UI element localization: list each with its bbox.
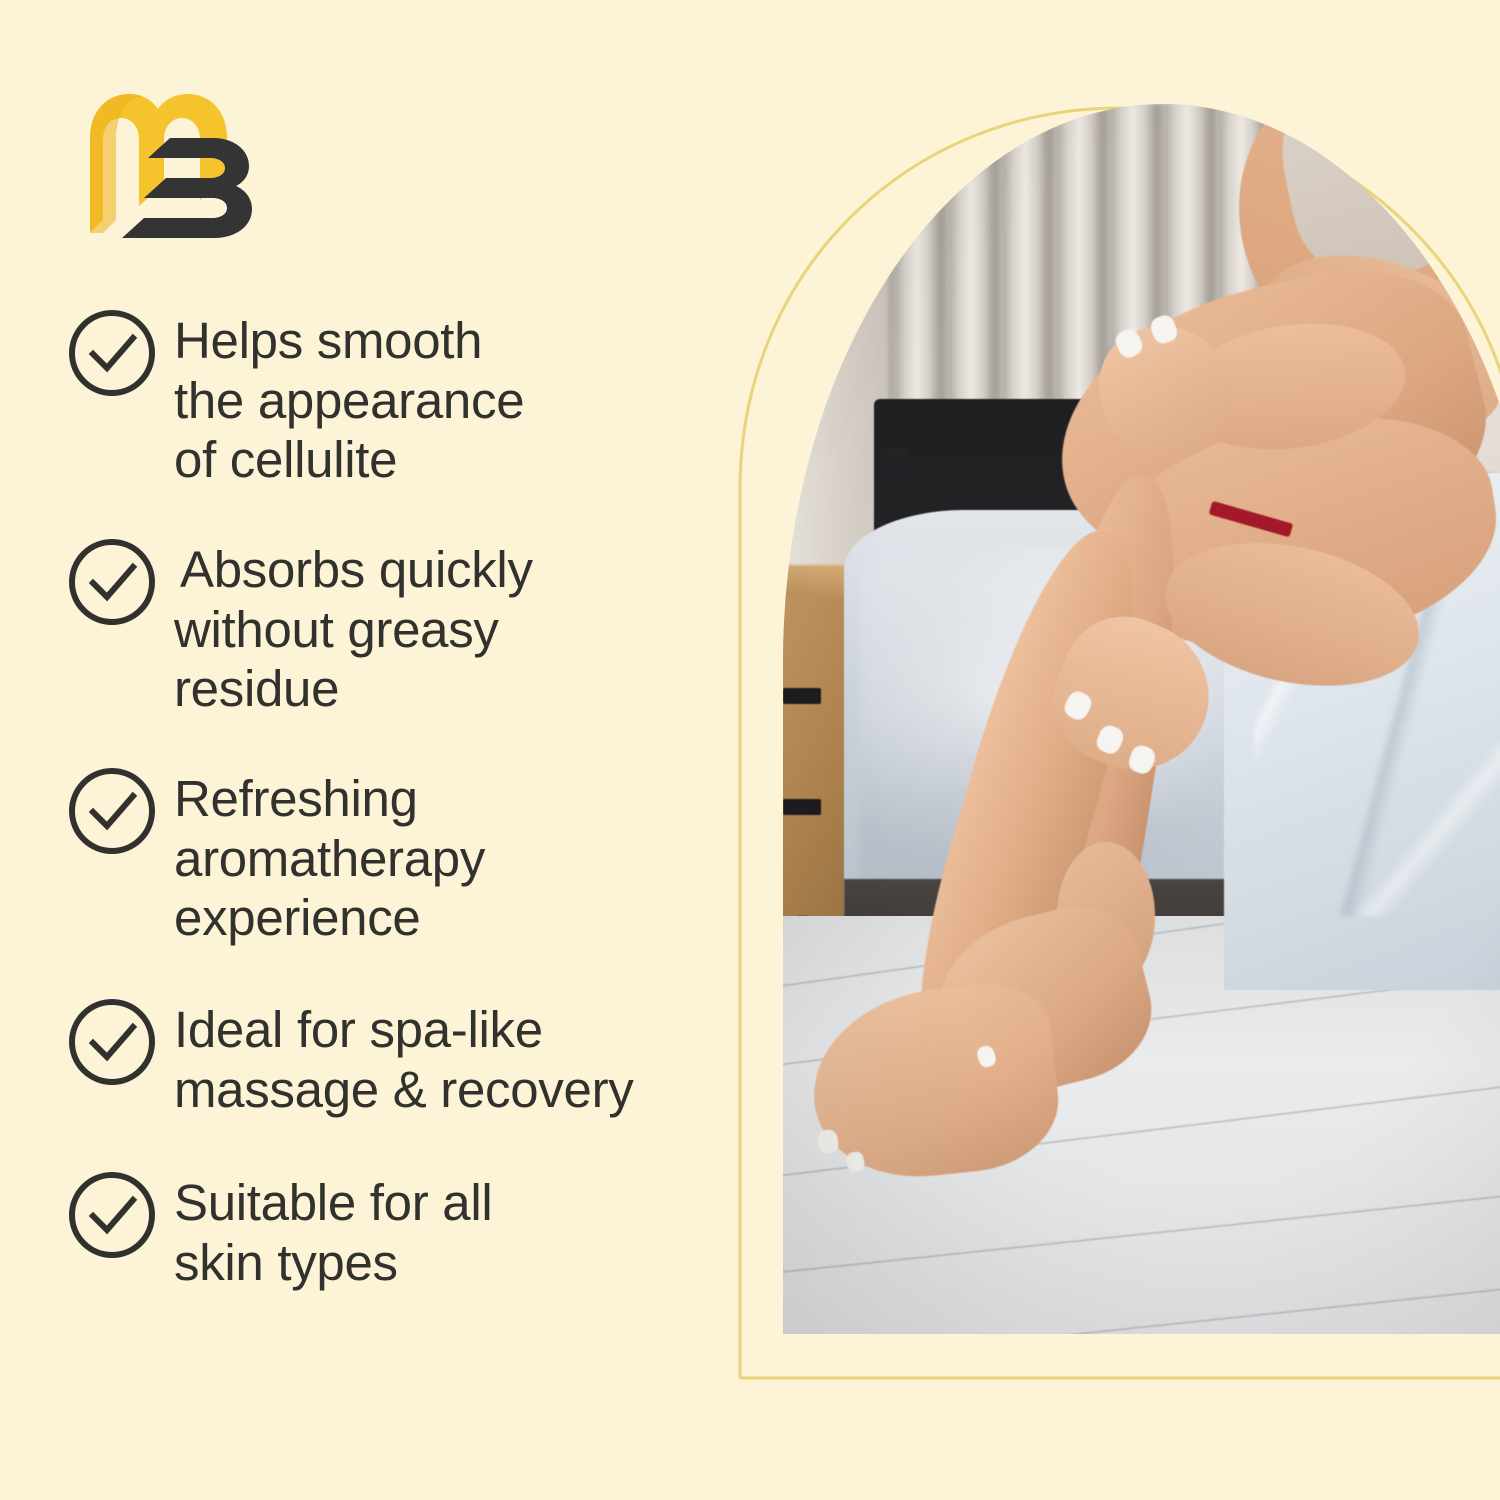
benefit-text: Refreshing aromatherapy experience xyxy=(174,763,485,948)
benefit-item: Ideal for spa-like massage & recovery xyxy=(66,994,756,1119)
logo-m-mark xyxy=(90,94,227,233)
benefit-text: Absorbs quickly without greasy residue xyxy=(174,534,533,719)
benefit-text: Suitable for all skin types xyxy=(174,1167,492,1292)
bedroom-scene xyxy=(783,104,1500,1334)
check-circle-icon xyxy=(66,996,158,1088)
benefit-item: Suitable for all skin types xyxy=(66,1167,756,1292)
check-circle-icon xyxy=(66,765,158,857)
check-circle-icon xyxy=(66,1169,158,1261)
benefit-text: Helps smooth the appearance of cellulite xyxy=(174,305,524,490)
nightstand-drawer-handle xyxy=(783,799,821,815)
check-circle-icon xyxy=(66,536,158,628)
benefit-item: Refreshing aromatherapy experience xyxy=(66,763,756,948)
benefit-text: Ideal for spa-like massage & recovery xyxy=(174,994,633,1119)
marketing-image-canvas: Helps smooth the appearance of cellulite… xyxy=(0,0,1500,1500)
benefit-item: Helps smooth the appearance of cellulite xyxy=(66,305,756,490)
benefit-item: Absorbs quickly without greasy residue xyxy=(66,534,756,719)
mb-monogram-logo xyxy=(82,88,257,243)
lifestyle-photo-arch xyxy=(783,104,1500,1334)
check-circle-icon xyxy=(66,307,158,399)
nightstand-drawer-handle xyxy=(783,688,821,704)
benefits-list: Helps smooth the appearance of cellulite… xyxy=(66,305,756,1293)
